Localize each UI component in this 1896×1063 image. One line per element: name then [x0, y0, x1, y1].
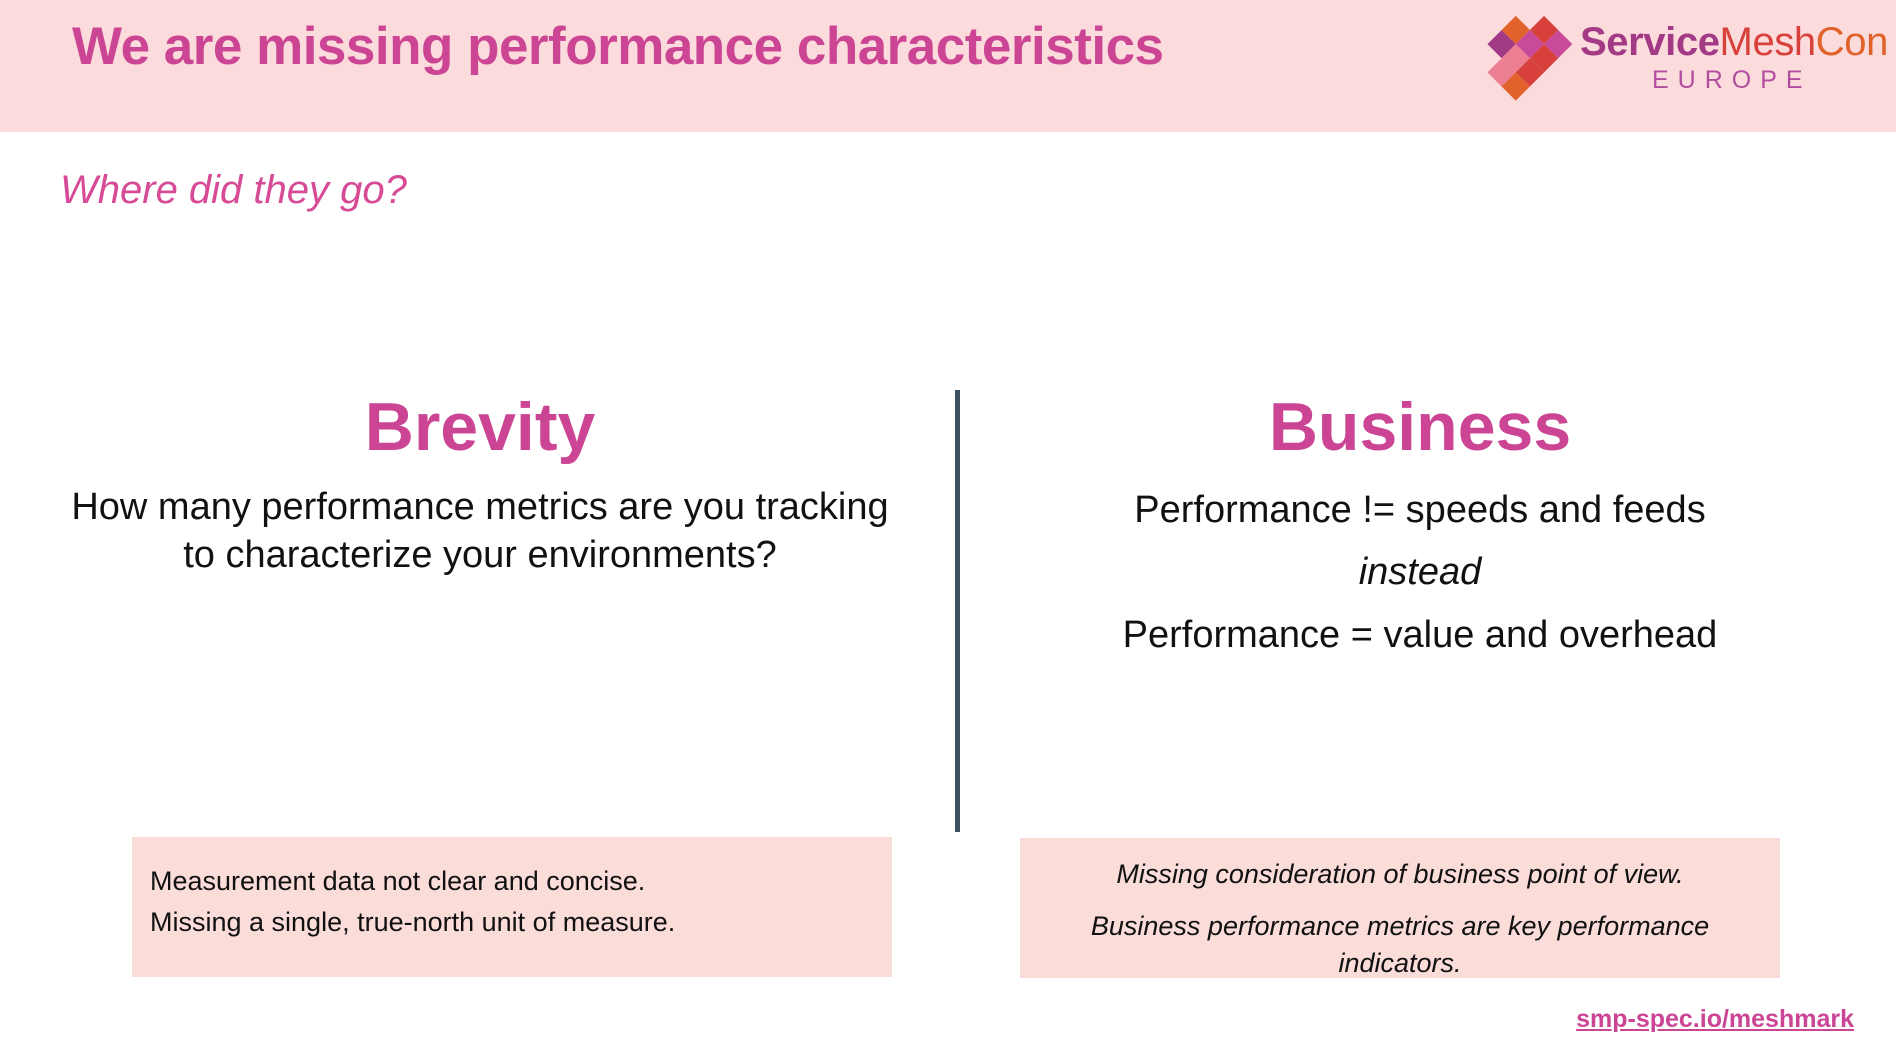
logo-word-mesh: Mesh: [1720, 20, 1816, 64]
servicemeshcon-diamond-mark-icon: [1468, 6, 1572, 102]
column-body-business: Performance != speeds and feeds instead …: [1000, 479, 1840, 667]
logo-subtitle-europe: EUROPE: [1652, 66, 1812, 95]
callout-business: Missing consideration of business point …: [1020, 838, 1780, 978]
footer-link-smp-spec[interactable]: smp-spec.io/meshmark: [1576, 1005, 1854, 1034]
column-business: Business Performance != speeds and feeds…: [1000, 390, 1840, 667]
business-line-1: Performance != speeds and feeds: [1000, 479, 1840, 542]
callout-brevity: Measurement data not clear and concise. …: [132, 837, 892, 977]
logo-word-service: Service: [1580, 20, 1720, 64]
callout-brevity-line-1: Measurement data not clear and concise.: [150, 861, 874, 902]
slide-subtitle: Where did they go?: [60, 168, 407, 213]
callout-business-line-2: Business performance metrics are key per…: [1044, 908, 1756, 981]
logo-wordmark: ServiceMeshCon: [1580, 20, 1888, 65]
business-line-3: Performance = value and overhead: [1000, 604, 1840, 667]
column-body-brevity: How many performance metrics are you tra…: [60, 483, 900, 580]
servicemeshcon-logo: ServiceMeshCon EUROPE: [1468, 4, 1880, 124]
logo-word-con: Con: [1816, 20, 1888, 64]
column-heading-brevity: Brevity: [60, 390, 900, 465]
header-band: We are missing performance characteristi…: [0, 0, 1896, 132]
page-title: We are missing performance characteristi…: [72, 18, 1452, 76]
callout-brevity-line-2: Missing a single, true-north unit of mea…: [150, 902, 874, 943]
column-brevity: Brevity How many performance metrics are…: [60, 390, 900, 580]
business-line-2: instead: [1000, 541, 1840, 604]
column-divider: [955, 390, 960, 832]
callout-business-line-1: Missing consideration of business point …: [1044, 856, 1756, 892]
column-heading-business: Business: [1000, 390, 1840, 465]
